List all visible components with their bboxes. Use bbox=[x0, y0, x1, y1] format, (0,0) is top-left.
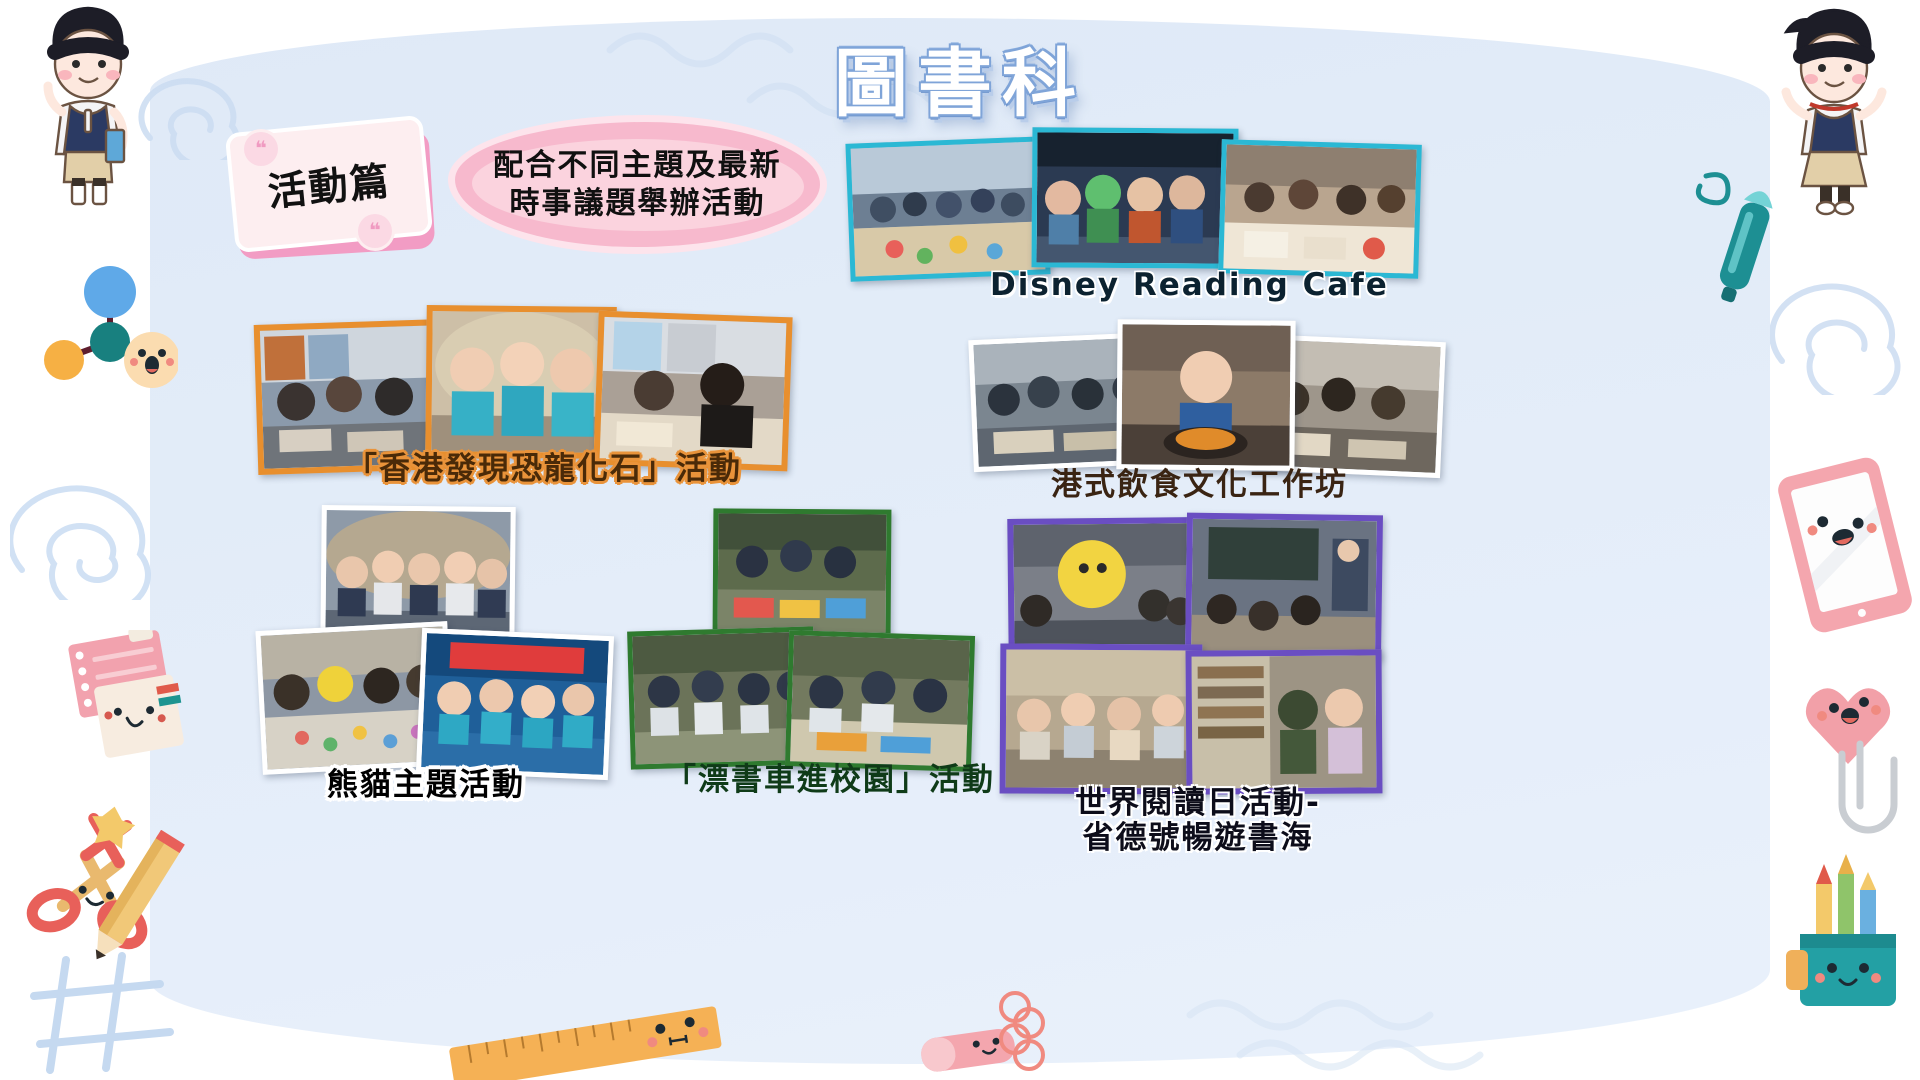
photo-image bbox=[1037, 132, 1234, 263]
photo-image bbox=[421, 633, 609, 775]
photo-thumbnail[interactable] bbox=[1116, 319, 1295, 471]
subtitle-line-1: 配合不同主題及最新 bbox=[494, 149, 782, 183]
photo-thumbnail[interactable] bbox=[1000, 643, 1203, 794]
schoolboy-mascot bbox=[18, 2, 158, 212]
photo-thumbnail[interactable] bbox=[593, 311, 792, 472]
photo-group-caption: 世界閱讀日活動- 省德號暢遊書海 bbox=[1068, 786, 1328, 855]
photo-image bbox=[718, 513, 887, 632]
photo-group-panda-theme-activity: 熊貓主題活動 bbox=[255, 500, 595, 800]
subtitle-bubble-inner: 配合不同主題及最新 時事議題舉辦活動 bbox=[472, 139, 804, 231]
photo-image bbox=[1223, 144, 1416, 273]
photo-image bbox=[851, 141, 1046, 276]
schoolgirl-mascot bbox=[1762, 4, 1904, 216]
section-badge: 活動篇 ❝ ❝ bbox=[230, 124, 435, 256]
quote-mark-icon-bottom: ❝ bbox=[358, 214, 392, 248]
photo-thumbnail[interactable] bbox=[713, 508, 892, 637]
photo-image bbox=[1192, 655, 1377, 788]
photo-group-disney-reading-cafe: Disney Reading Cafe bbox=[840, 120, 1410, 320]
photo-group-book-bus-campus: 「漂書車進校園」活動 bbox=[625, 505, 970, 805]
photo-group-hk-food-culture-workshop: 港式飲食文化工作坊 bbox=[965, 320, 1445, 540]
photo-thumbnail[interactable] bbox=[425, 305, 617, 459]
quote-mark-icon-top: ❝ bbox=[244, 132, 278, 166]
photo-thumbnail[interactable] bbox=[1185, 649, 1382, 794]
caption-line-2: 省德號暢遊書海 bbox=[1068, 821, 1328, 856]
heart-paperclip-doodle bbox=[1782, 670, 1912, 840]
subtitle-line-2: 時事議題舉辦活動 bbox=[510, 187, 766, 221]
photo-group-caption: 港式飲食文化工作坊 bbox=[1051, 468, 1348, 503]
pencil-cup-doodle bbox=[1778, 850, 1918, 1020]
photo-thumbnail[interactable] bbox=[416, 628, 614, 780]
photo-image bbox=[1013, 523, 1196, 653]
photo-thumbnail[interactable] bbox=[845, 136, 1050, 282]
photo-image bbox=[431, 311, 610, 453]
photo-thumbnail[interactable] bbox=[1185, 513, 1383, 660]
photo-thumbnail[interactable] bbox=[1007, 517, 1202, 659]
photo-image bbox=[600, 317, 787, 465]
photo-image bbox=[1191, 519, 1377, 654]
page-title: 圖書科 bbox=[0, 24, 1920, 131]
photo-image bbox=[1121, 324, 1290, 465]
photo-image bbox=[1006, 650, 1197, 789]
photo-group-world-reading-day: 世界閱讀日活動- 省德號暢遊書海 bbox=[1000, 510, 1390, 850]
section-badge-label: 活動篇 bbox=[265, 150, 393, 218]
spiral-doodle-right bbox=[1770, 265, 1910, 395]
photo-group-caption: 「香港發現恐龍化石」活動 bbox=[346, 452, 742, 487]
poster-canvas: 圖書科 活動篇 ❝ ❝ 配合不同主題及最新 時事議題舉辦活動 bbox=[0, 0, 1920, 1080]
photo-thumbnail[interactable] bbox=[785, 630, 975, 772]
photo-group-caption: 「漂書車進校園」活動 bbox=[665, 763, 995, 798]
caption-line-1: 世界閱讀日活動- bbox=[1068, 786, 1328, 821]
photo-thumbnail[interactable] bbox=[1218, 139, 1422, 279]
tablet-doodle bbox=[1775, 455, 1915, 635]
photo-thumbnail[interactable] bbox=[1032, 127, 1239, 268]
photo-group-caption: 熊貓主題活動 bbox=[327, 768, 525, 803]
photo-image bbox=[260, 325, 442, 469]
photo-group-hk-dinosaur-fossil: 「香港發現恐龍化石」活動 bbox=[250, 300, 790, 520]
photo-image bbox=[790, 635, 970, 766]
photo-group-caption: Disney Reading Cafe bbox=[990, 268, 1389, 303]
